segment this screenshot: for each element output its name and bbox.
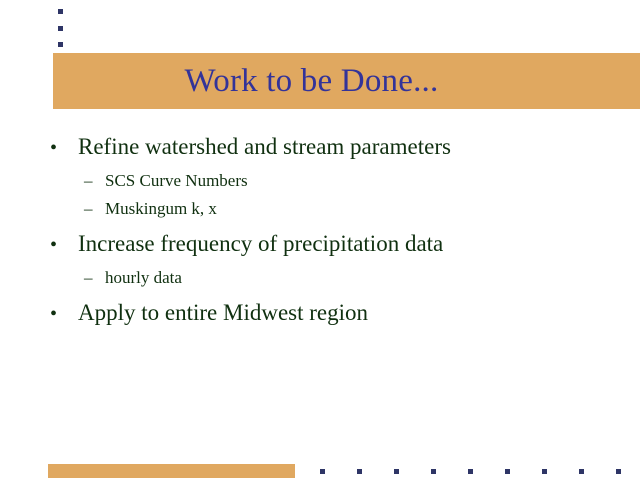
slide-title: Work to be Done... xyxy=(53,53,640,109)
footer-accent-bar xyxy=(48,464,295,478)
decorative-dot-icon xyxy=(468,469,473,474)
decorative-dot-icon xyxy=(616,469,621,474)
dash-marker-icon: – xyxy=(84,195,105,223)
sub-bullet-text: SCS Curve Numbers xyxy=(105,167,248,195)
decorative-dot-icon xyxy=(542,469,547,474)
decorative-dot-icon xyxy=(58,9,63,14)
decorative-dot-icon xyxy=(58,42,63,47)
decorative-dot-icon xyxy=(505,469,510,474)
presentation-slide: Work to be Done... • Refine watershed an… xyxy=(0,0,640,480)
sub-bullet-text: Muskingum k, x xyxy=(105,195,217,223)
sub-bullet-text: hourly data xyxy=(105,264,182,292)
decorative-dot-icon xyxy=(320,469,325,474)
decorative-dot-icon xyxy=(394,469,399,474)
decorative-dot-icon xyxy=(431,469,436,474)
sub-bullet-item: – Muskingum k, x xyxy=(0,195,640,223)
decorative-dot-icon xyxy=(579,469,584,474)
decorative-dot-icon xyxy=(357,469,362,474)
bullet-text: Refine watershed and stream parameters xyxy=(78,130,451,163)
dash-marker-icon: – xyxy=(84,167,105,195)
bullet-marker-icon: • xyxy=(50,132,78,165)
bullet-marker-icon: • xyxy=(50,298,78,331)
bullet-item: • Increase frequency of precipitation da… xyxy=(0,227,640,262)
bullet-item: • Refine watershed and stream parameters xyxy=(0,130,640,165)
bullet-text: Apply to entire Midwest region xyxy=(78,296,368,329)
bullet-marker-icon: • xyxy=(50,229,78,262)
bullet-text: Increase frequency of precipitation data xyxy=(78,227,443,260)
sub-bullet-item: – hourly data xyxy=(0,264,640,292)
slide-body: • Refine watershed and stream parameters… xyxy=(0,130,640,333)
decorative-dot-icon xyxy=(58,26,63,31)
dash-marker-icon: – xyxy=(84,264,105,292)
bullet-item: • Apply to entire Midwest region xyxy=(0,296,640,331)
sub-bullet-item: – SCS Curve Numbers xyxy=(0,167,640,195)
